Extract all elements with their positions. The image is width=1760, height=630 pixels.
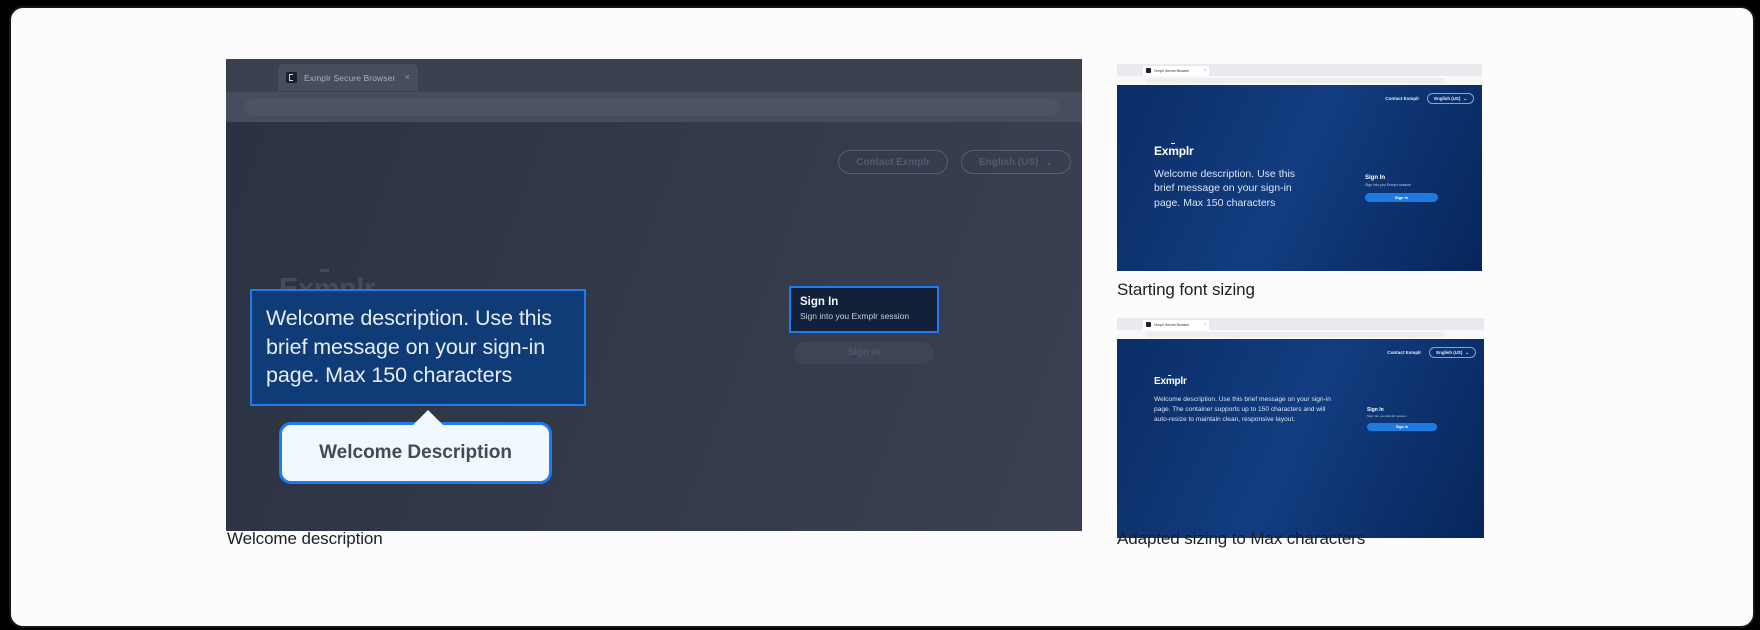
chevron-down-icon: ⌄ (1465, 350, 1469, 356)
signin-page-body: Contact Exmplr English (US) ⌄ Exmplr Wel… (1117, 85, 1482, 271)
signin-button[interactable]: Sign in (1365, 193, 1438, 202)
browser-tab-title: Exmplr Secure Browser (1154, 323, 1190, 327)
contact-exmplr-button[interactable]: Contact Exmplr (1385, 96, 1419, 101)
exmplr-favicon-icon (286, 72, 297, 83)
signin-card: Sign In Sign into you Exmplr session Sig… (1365, 175, 1438, 202)
page-root: Exmplr Secure Browser × Contact Exmplr E… (9, 6, 1755, 628)
signin-subtitle: Sign into you Exmplr session (1365, 183, 1438, 187)
language-label: English (US) (979, 157, 1038, 168)
welcome-description-text: Welcome description. Use this brief mess… (1154, 167, 1314, 210)
browser-tab-title: Exmplr Secure Browser (304, 73, 395, 83)
language-label: English (US) (1436, 350, 1462, 355)
page-top-actions: Contact Exmplr English (US) ⌄ (838, 150, 1071, 174)
exmplr-logo-text: Exmplr (1154, 144, 1193, 158)
page-top-actions: Contact Exmplr English (US) ⌄ (1387, 347, 1476, 358)
contact-exmplr-button[interactable]: Contact Exmplr (838, 150, 948, 174)
browser-tab[interactable]: Exmplr Secure Browser × (278, 64, 418, 91)
welcome-description-callout: Welcome Description (279, 422, 552, 484)
close-icon[interactable]: × (1204, 69, 1206, 73)
signin-card: Sign In Sign into you Exmplr session Sig… (1367, 407, 1437, 431)
welcome-description-highlight: Welcome description. Use this brief mess… (250, 289, 586, 406)
exmplr-logo: Exmplr (1154, 145, 1193, 157)
signin-header-highlight: Sign In Sign into you Exmplr session (789, 286, 939, 333)
exmplr-favicon-icon (1146, 322, 1151, 327)
signin-title: Sign In (800, 295, 928, 309)
url-input[interactable] (1145, 332, 1445, 337)
signin-button-label: Sign in (1396, 425, 1408, 429)
signin-card: Sign In Sign into you Exmplr session Sig… (789, 286, 939, 364)
browser-tab[interactable]: Exmplr Secure Browser × (1143, 320, 1209, 331)
signin-page-body: Contact Exmplr English (US) ⌄ Exmplr Wel… (226, 122, 1082, 531)
browser-tab-bar: Exmplr Secure Browser × (226, 59, 1082, 92)
contact-exmplr-label: Contact Exmplr (856, 157, 930, 168)
thumbnail-starting-font-sizing: Exmplr Secure Browser × Contact Exmplr E… (1117, 64, 1482, 271)
url-input[interactable] (1145, 78, 1445, 83)
browser-tab-title: Exmplr Secure Browser (1154, 69, 1190, 73)
chevron-down-icon: ⌄ (1463, 96, 1467, 102)
browser-url-bar (1117, 330, 1484, 339)
exmplr-favicon-icon (1146, 68, 1151, 73)
welcome-description-text: Welcome description. Use this brief mess… (1154, 395, 1334, 425)
callout-label: Welcome Description (319, 442, 512, 464)
url-input[interactable] (244, 99, 1060, 116)
logo-tick-mark (1171, 143, 1175, 145)
caption-welcome-description: Welcome description (227, 529, 383, 549)
signin-button[interactable]: Sign in (794, 342, 934, 364)
welcome-description-mockup: Exmplr Secure Browser × Contact Exmplr E… (226, 59, 1082, 531)
close-icon[interactable]: × (405, 73, 410, 82)
language-selector[interactable]: English (US) ⌄ (1427, 93, 1474, 104)
browser-url-bar (1117, 76, 1482, 85)
browser-tab[interactable]: Exmplr Secure Browser × (1143, 66, 1209, 77)
browser-tab-bar: Exmplr Secure Browser × (1117, 64, 1482, 76)
signin-subtitle: Sign into you Exmplr session (800, 311, 928, 321)
logo-tick-mark (320, 269, 329, 272)
language-selector[interactable]: English (US) ⌄ (961, 150, 1071, 174)
caption-adapted-sizing: Adapted sizing to Max characters (1117, 529, 1365, 549)
page-top-actions: Contact Exmplr English (US) ⌄ (1385, 93, 1474, 104)
logo-tick-mark (1168, 375, 1171, 376)
close-icon[interactable]: × (1204, 323, 1206, 327)
thumbnail-adapted-sizing: Exmplr Secure Browser × Contact Exmplr E… (1117, 318, 1484, 538)
browser-tab-bar: Exmplr Secure Browser × (1117, 318, 1484, 330)
signin-button[interactable]: Sign in (1367, 423, 1437, 431)
signin-button-label: Sign in (847, 347, 880, 358)
signin-subtitle: Sign into you Exmplr session (1367, 414, 1437, 418)
signin-button-label: Sign in (1395, 195, 1408, 200)
exmplr-logo-text: Exmplr (1154, 376, 1187, 387)
exmplr-logo: Exmplr (1154, 377, 1187, 387)
language-selector[interactable]: English (US) ⌄ (1429, 347, 1476, 358)
signin-page-body: Contact Exmplr English (US) ⌄ Exmplr Wel… (1117, 339, 1484, 538)
signin-title: Sign In (1365, 175, 1438, 181)
chevron-down-icon: ⌄ (1045, 157, 1053, 168)
browser-url-bar (226, 92, 1082, 122)
callout-arrow-icon (412, 410, 444, 426)
language-label: English (US) (1434, 96, 1460, 101)
contact-exmplr-button[interactable]: Contact Exmplr (1387, 350, 1421, 355)
signin-title: Sign In (1367, 407, 1437, 413)
caption-starting-font-sizing: Starting font sizing (1117, 280, 1255, 300)
